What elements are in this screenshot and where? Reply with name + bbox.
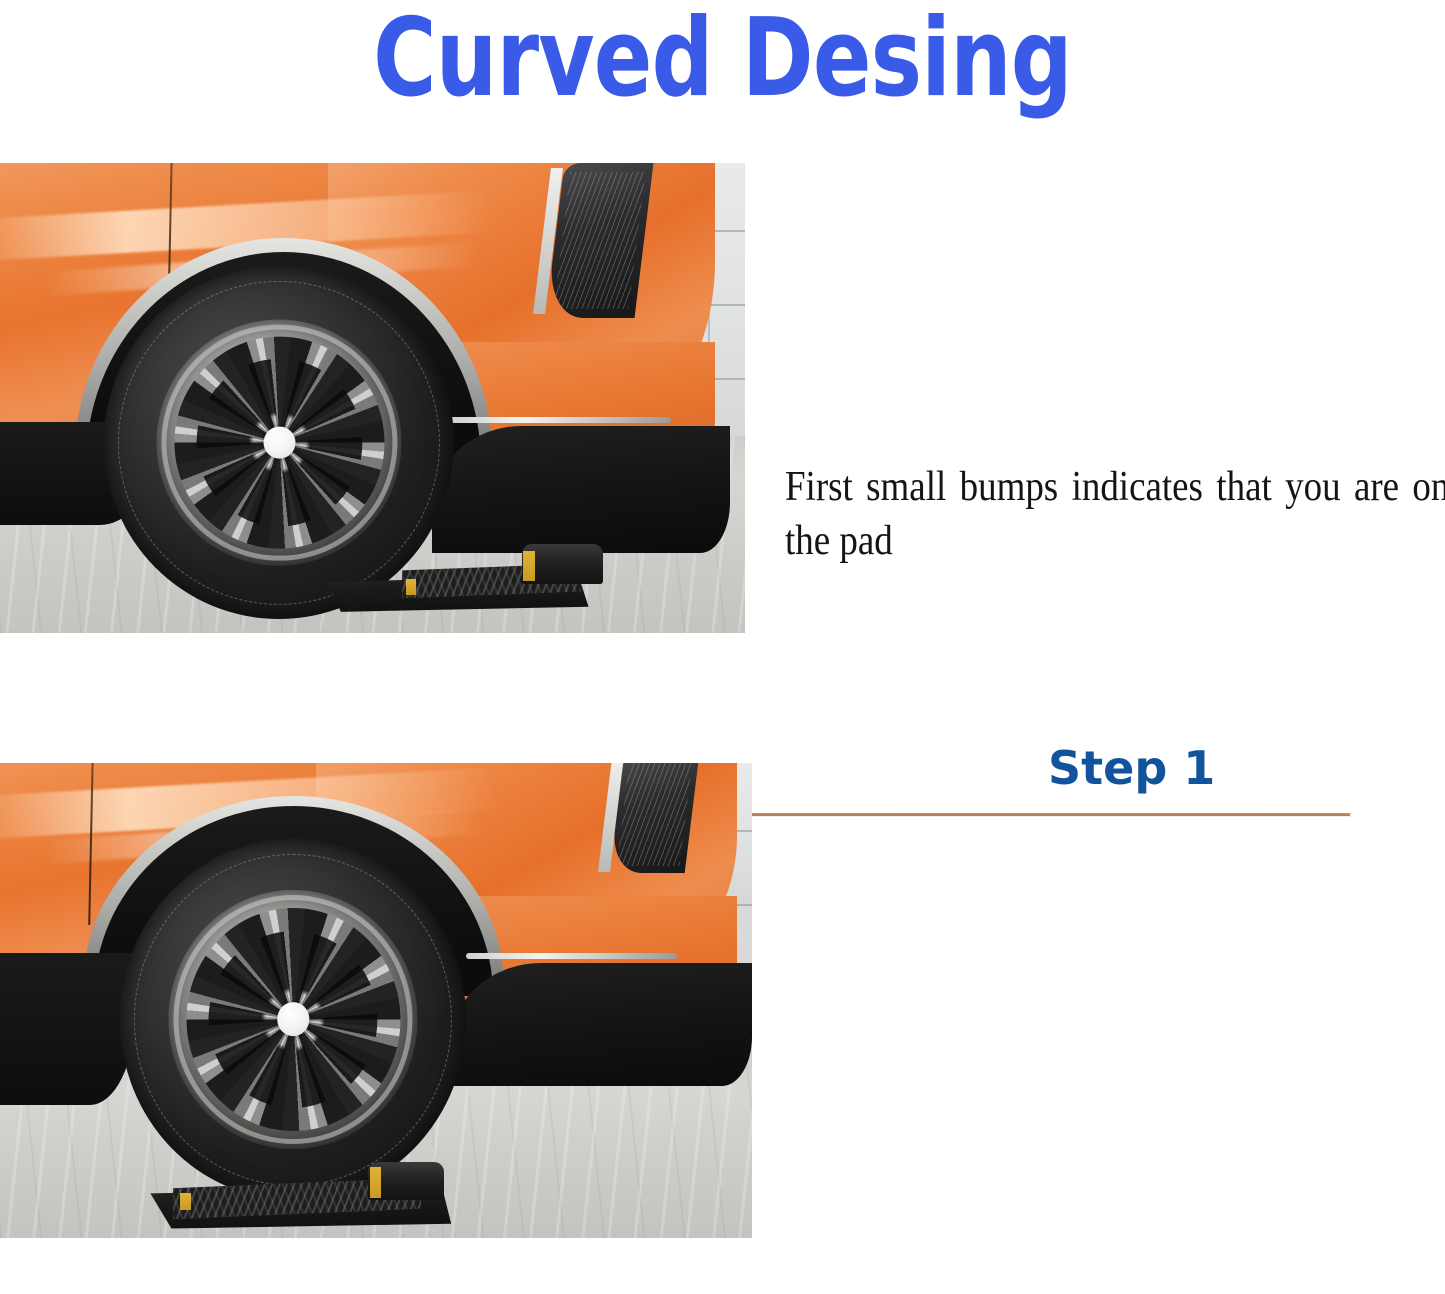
bumper-chrome-strip: [447, 417, 671, 423]
pad-yellow-stripe-small: [180, 1193, 191, 1210]
step-section-1: First small bumps indicates that you are…: [0, 163, 1445, 652]
page-title: Curved Desing: [145, 0, 1301, 121]
car-tire: [104, 266, 454, 619]
car-on-pad-scene-1: [0, 163, 745, 633]
lower-bumper-cladding: [451, 963, 752, 1087]
alloy-wheel-rim: [157, 319, 402, 566]
car-taillight: [609, 763, 699, 872]
wheel-center-cap: [263, 427, 295, 459]
lower-bumper-cladding: [432, 426, 730, 553]
step-photo-2: [0, 763, 752, 1238]
wheel-center-cap: [277, 1003, 309, 1037]
rocker-panel: [0, 953, 135, 1105]
bumper-chrome-strip: [466, 953, 677, 959]
car-tire: [120, 839, 466, 1200]
alloy-wheel-rim: [169, 890, 418, 1150]
step-section-2: The second larger bumps helps with parki…: [0, 763, 1445, 1288]
infographic-page: Curved Desing: [0, 0, 1445, 1294]
step-description-1: First small bumps indicates that you are…: [785, 461, 1445, 569]
pad-yellow-stripe-small: [406, 579, 416, 595]
car-on-pad-scene-2: [0, 763, 752, 1238]
pad-yellow-stripe: [370, 1167, 381, 1198]
step-photo-1: [0, 163, 745, 633]
pad-yellow-stripe: [523, 551, 535, 582]
